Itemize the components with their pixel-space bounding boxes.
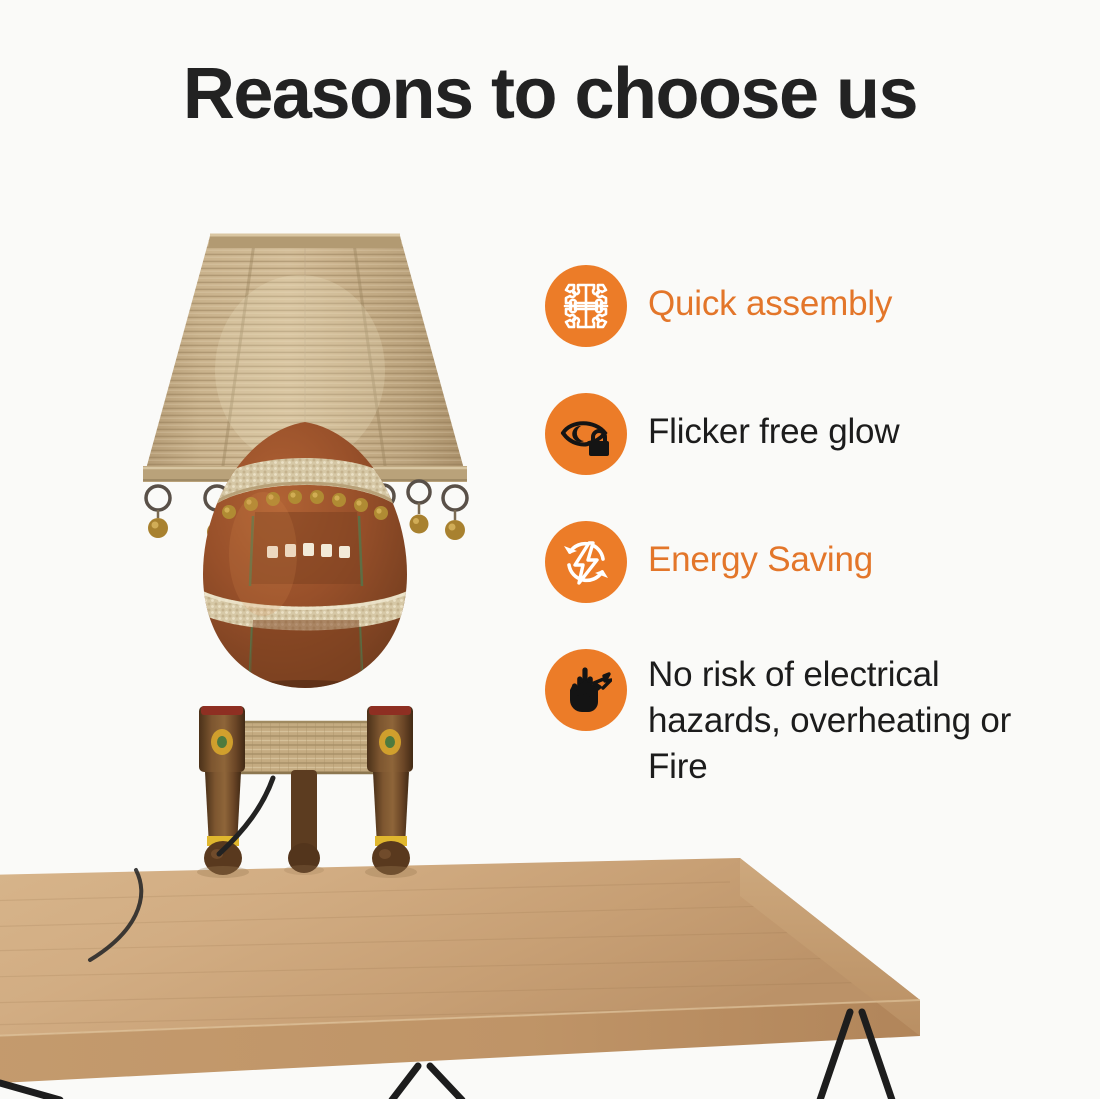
table-lamp-illustration	[95, 230, 515, 950]
feature-item-energy-saving[interactable]: Energy Saving	[545, 521, 1045, 603]
eye-lock-icon	[545, 393, 627, 475]
product-photo	[0, 0, 545, 1099]
feature-label: Energy Saving	[648, 521, 873, 583]
feature-label: Flicker free glow	[648, 393, 899, 455]
feature-item-flicker-free-glow[interactable]: Flicker free glow	[545, 393, 1045, 475]
energy-recycle-bolt-icon	[545, 521, 627, 603]
hand-electric-shock-icon	[545, 649, 627, 731]
puzzle-gear-icon	[545, 265, 627, 347]
feature-label: Quick assembly	[648, 265, 892, 327]
feature-item-no-electrical-risk[interactable]: No risk of electrical hazards, overheati…	[545, 649, 1045, 790]
feature-label: No risk of electrical hazards, overheati…	[648, 649, 1045, 790]
charpai-stool	[197, 706, 417, 878]
feature-item-quick-assembly[interactable]: Quick assembly	[545, 265, 1045, 347]
page-title: Reasons to choose us	[0, 58, 1100, 130]
infographic-canvas: Reasons to choose us Quick assembl	[0, 0, 1100, 1099]
